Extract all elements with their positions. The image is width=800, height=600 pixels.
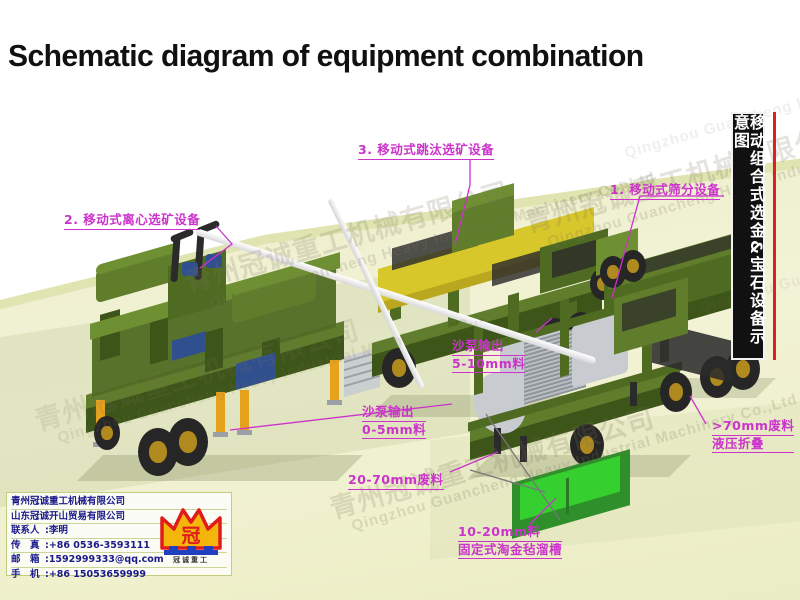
callout-pump-output-5-10mm[interactable]: 沙泵输出 5-10mm料: [452, 338, 525, 373]
contact-fax-label: 传 真: [11, 539, 45, 553]
machine3-column: [508, 292, 519, 333]
schematic-canvas: 青州冠诚重工机械有限公司 Qingzhou Guancheng Heavy In…: [0, 0, 800, 600]
contact-mobile-value: +86 15053659999: [49, 569, 146, 580]
feed-pipe-elbow: [170, 228, 195, 243]
hydraulic-leg: [330, 360, 339, 402]
hydraulic-foot: [237, 430, 252, 435]
hydraulic-foot: [213, 432, 228, 437]
wheel: [168, 418, 208, 466]
callout-waste-20-70mm[interactable]: 20-70mm废料: [348, 472, 444, 490]
hydraulic-leg: [240, 390, 249, 432]
logo-glyph: 冠: [181, 525, 200, 547]
contact-person-value: 李明: [49, 525, 68, 536]
callout-2-centrifugal-equipment[interactable]: 2. 移动式离心选矿设备: [64, 212, 200, 230]
trommel-leg: [630, 382, 637, 406]
wheel: [620, 250, 646, 282]
contact-person-label: 联系人: [11, 524, 45, 538]
vertical-banner-text: 移动组合式选金&宝石设备示意图: [732, 114, 764, 358]
pump-motor: [182, 262, 198, 276]
callout-pump-output-0-5mm[interactable]: 沙泵输出 0-5mm料: [362, 404, 426, 439]
contact-mobile-label: 手 机: [11, 568, 45, 582]
logo-base-block: [204, 546, 213, 552]
logo-caption: 冠诚重工: [173, 555, 209, 564]
callout-3-jig-equipment[interactable]: 3. 移动式跳汰选矿设备: [358, 142, 494, 160]
callout-waste-over-70mm[interactable]: >70mm废料 液压折叠: [712, 418, 794, 453]
trommel-rail-post: [560, 299, 569, 378]
vertical-banner: 移动组合式选金&宝石设备示意图: [731, 112, 765, 360]
callout-sluice-10-20mm[interactable]: 10-20mm料 固定式淘金毡溜槽: [458, 524, 562, 559]
wheel: [94, 416, 120, 450]
hydraulic-foot: [327, 400, 342, 405]
logo-base-block: [169, 546, 178, 552]
hydraulic-leg: [216, 392, 225, 434]
sluice-divider: [566, 478, 569, 515]
company-logo: 冠 冠诚重工: [158, 502, 224, 564]
contact-mobile-row: 手 机:+86 15053659999: [11, 568, 227, 582]
trommel-leg: [494, 428, 501, 454]
logo-base-block: [187, 546, 196, 552]
contact-fax-value: +86 0536-3593111: [49, 540, 150, 551]
page-title: Schematic diagram of equipment combinati…: [8, 38, 644, 74]
banner-red-rule: [773, 112, 776, 360]
contact-email-value: 1592999333@qq.com: [49, 554, 164, 565]
machine2-frame-post: [205, 327, 223, 372]
machine2-shadow: [77, 455, 363, 481]
callout-1-screening-equipment[interactable]: 1. 移动式筛分设备: [610, 182, 720, 200]
contact-email-label: 邮 箱: [11, 553, 45, 567]
trommel-leg: [520, 436, 527, 462]
machine2-frame-post: [150, 317, 168, 364]
wheel: [660, 372, 692, 412]
pump-motor: [206, 254, 222, 268]
